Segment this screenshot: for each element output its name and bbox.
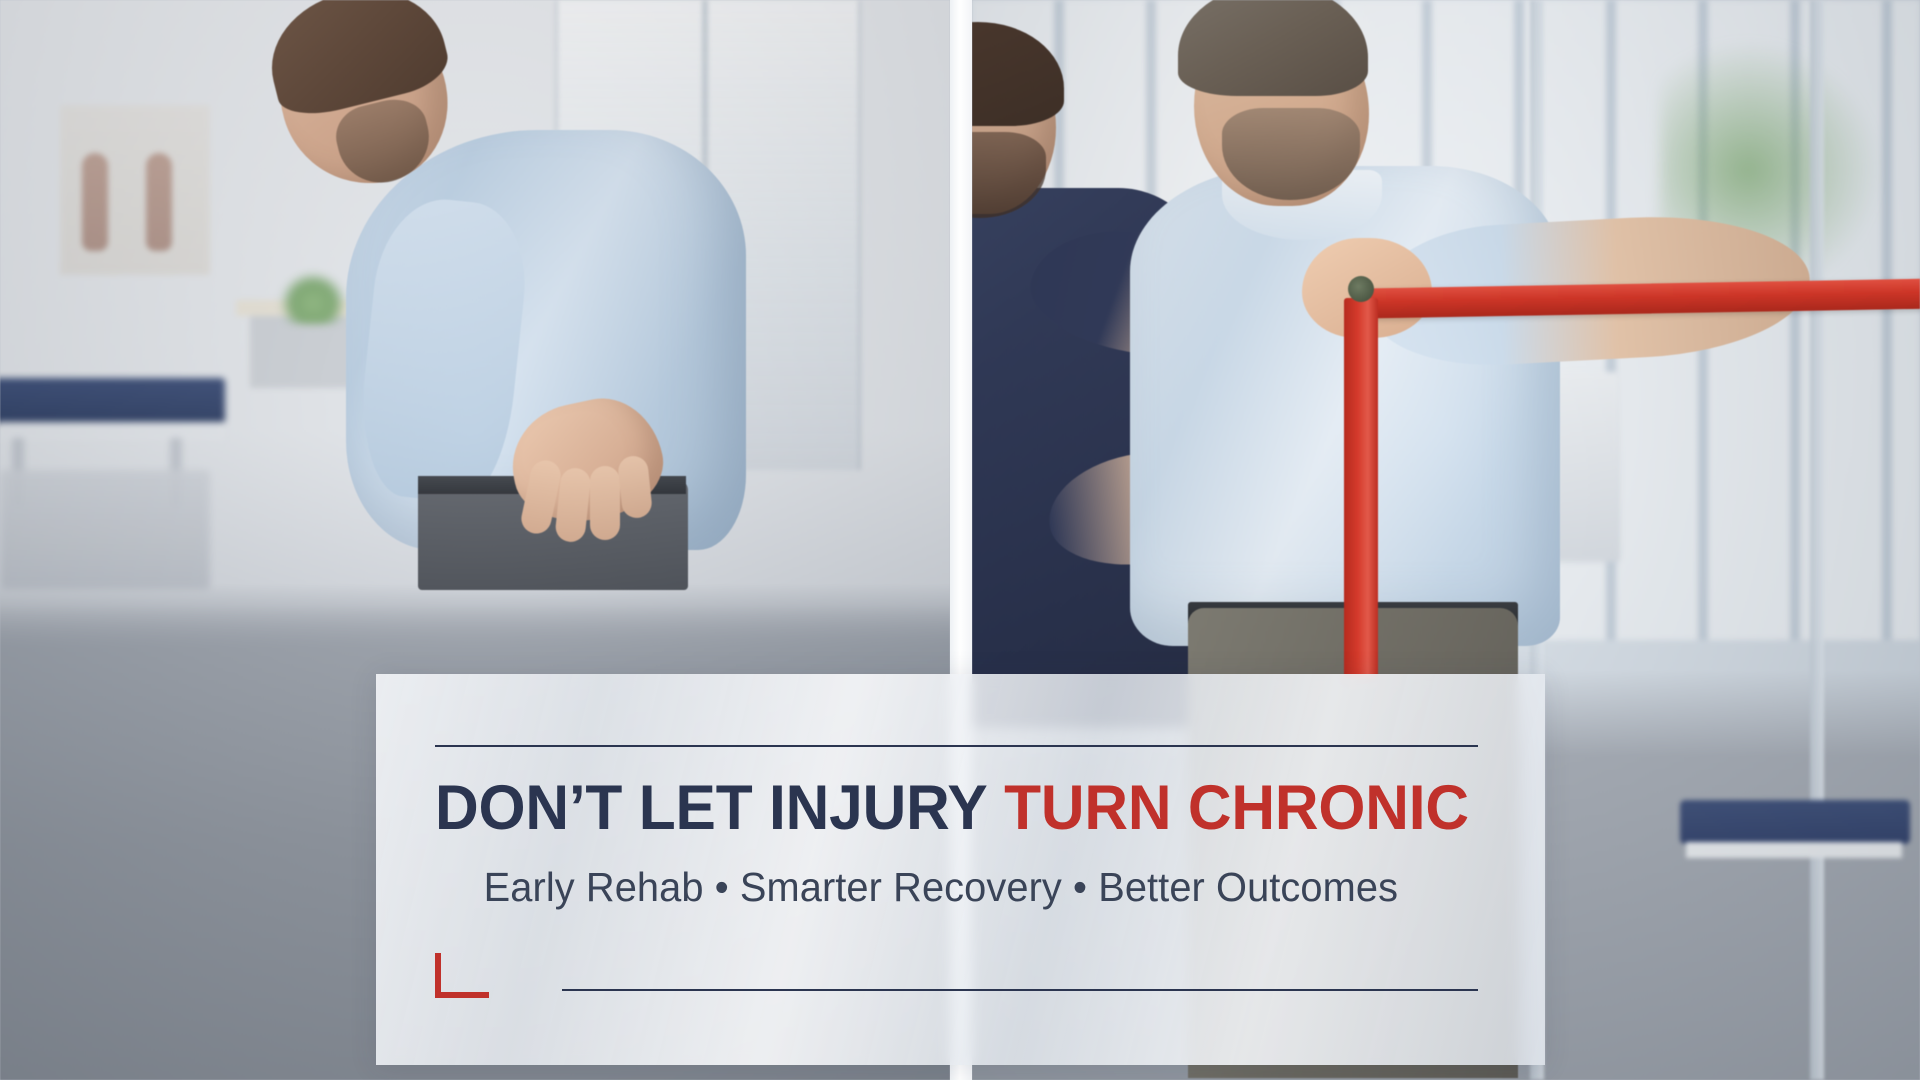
red-resistance-band-hanging bbox=[1344, 298, 1378, 678]
headline-space bbox=[987, 773, 1004, 843]
page-title: DON’T LET INJURY TURN CHRONIC bbox=[435, 775, 1436, 841]
resistance-band-grommet bbox=[1348, 276, 1374, 302]
headline-accent: TURN CHRONIC bbox=[1004, 773, 1469, 843]
headline-panel-content: DON’T LET INJURY TURN CHRONIC Early Reha… bbox=[435, 674, 1478, 1065]
patient-hair bbox=[1178, 0, 1368, 96]
page-subtitle: Early Rehab • Smarter Recovery • Better … bbox=[435, 864, 1447, 911]
anatomy-poster bbox=[60, 105, 210, 275]
bed-frame bbox=[0, 422, 224, 440]
bottom-decor-row bbox=[435, 950, 1478, 1000]
therapist-hair bbox=[972, 22, 1064, 126]
secondary-bench bbox=[0, 470, 210, 590]
red-l-corner-bracket-icon bbox=[435, 953, 489, 998]
bottom-divider-rule bbox=[562, 989, 1478, 991]
back-pain-figure bbox=[250, 0, 780, 570]
figure-finger bbox=[590, 466, 620, 540]
headline-panel: DON’T LET INJURY TURN CHRONIC Early Reha… bbox=[376, 674, 1545, 1065]
bed-pad bbox=[0, 378, 225, 424]
headline-primary: DON’T LET INJURY bbox=[435, 773, 987, 843]
top-divider-rule bbox=[435, 745, 1478, 747]
banner-canvas: DON’T LET INJURY TURN CHRONIC Early Reha… bbox=[0, 0, 1920, 1080]
